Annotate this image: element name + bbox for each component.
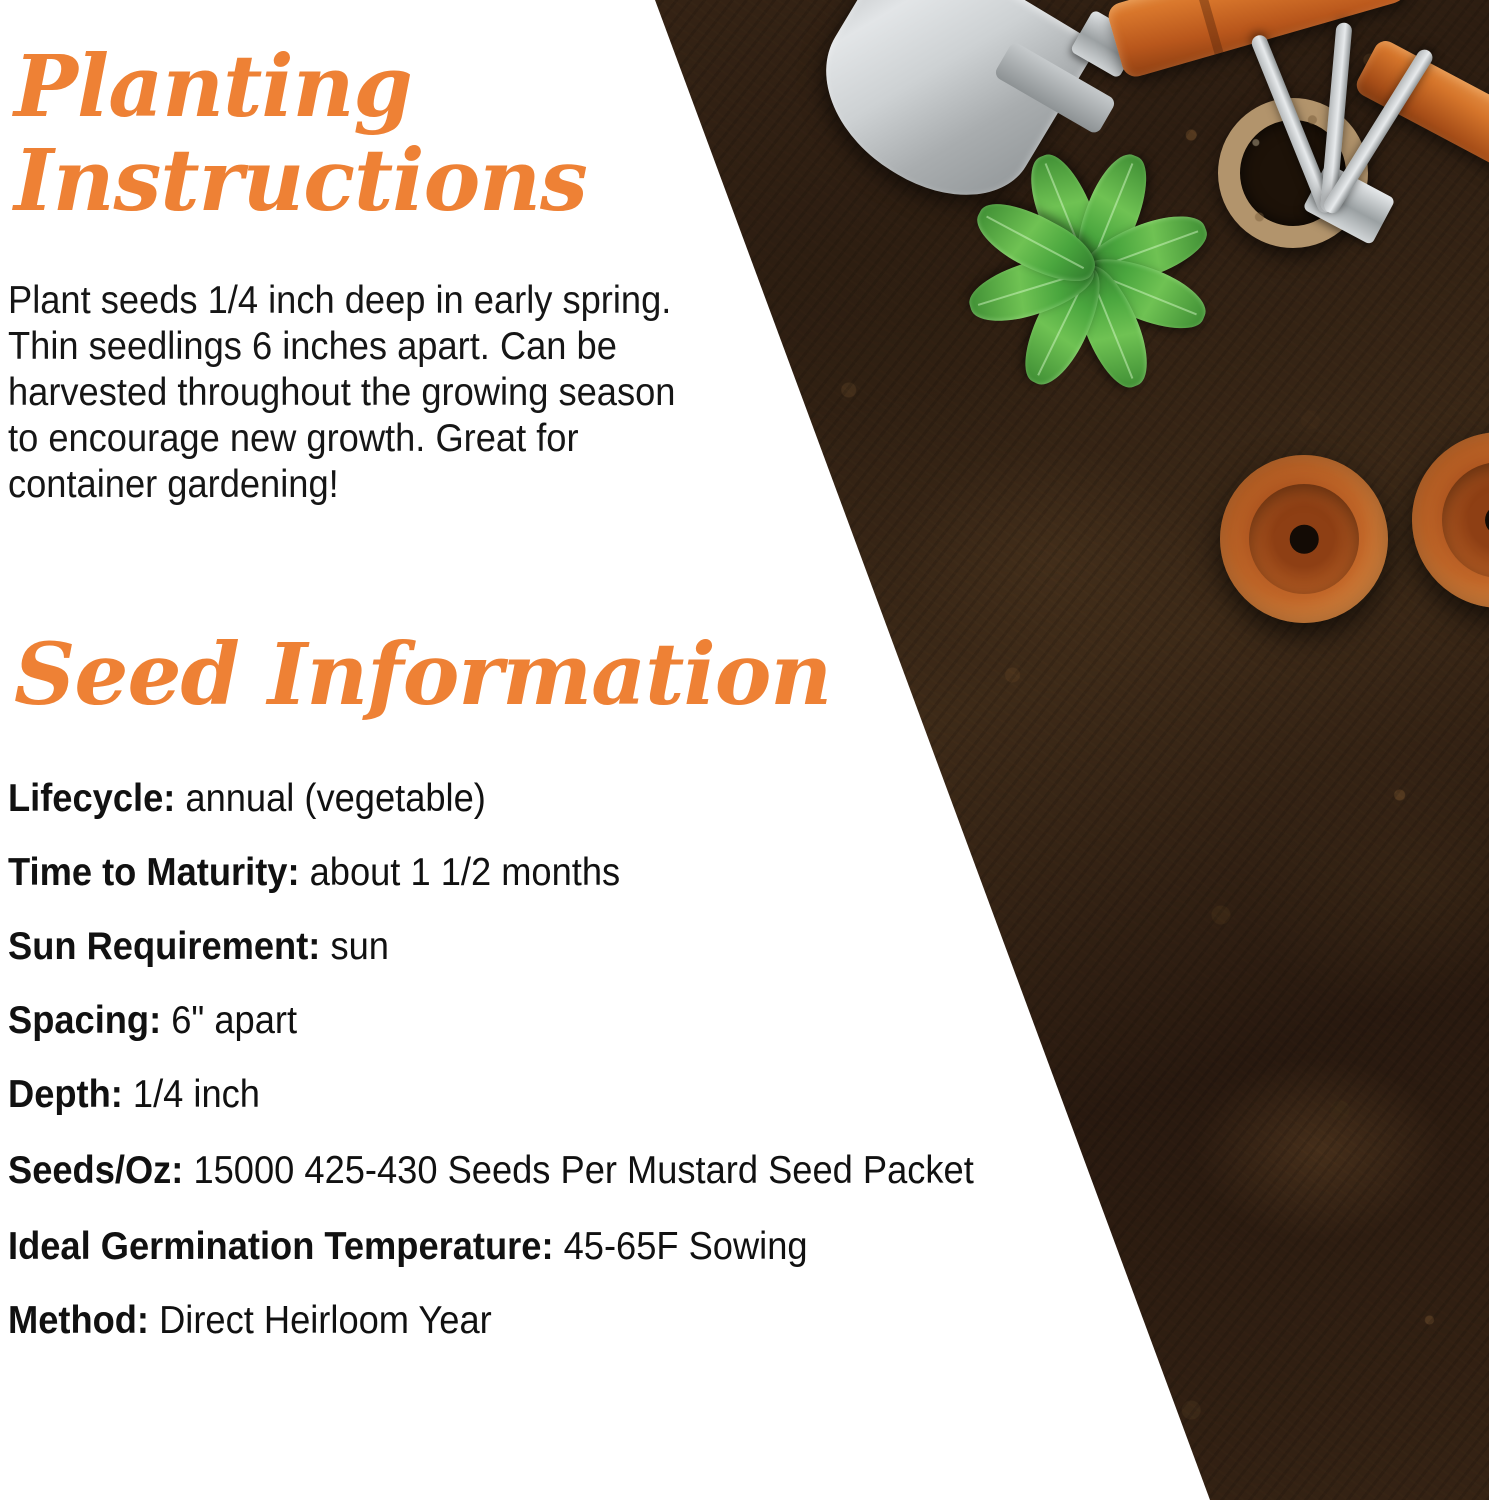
seed-info-row: Seeds/Oz: 15000 425-430 Seeds Per Mustar…	[8, 1145, 1105, 1197]
seed-info-value: Direct Heirloom Year	[159, 1299, 492, 1342]
seed-info-value: 15000 425-430 Seeds Per Mustard Seed Pac…	[193, 1149, 973, 1192]
seed-info-label: Ideal Germination Temperature:	[8, 1225, 554, 1268]
seed-info-row: Lifecycle: annual (vegetable)	[8, 775, 1105, 823]
seed-info-row: Depth: 1/4 inch	[8, 1071, 1105, 1119]
seed-info-label: Method:	[8, 1299, 149, 1342]
seed-info-label: Seeds/Oz:	[8, 1149, 183, 1192]
pot-interior	[1442, 462, 1489, 578]
seed-info-row: Sun Requirement: sun	[8, 923, 1105, 971]
seed-information-heading: Seed Information	[14, 628, 831, 722]
terracotta-pot-icon	[1220, 455, 1388, 623]
seed-info-value: about 1 1/2 months	[310, 851, 621, 894]
seed-info-row: Method: Direct Heirloom Year	[8, 1297, 1105, 1345]
seed-info-value: 1/4 inch	[133, 1073, 260, 1116]
seed-info-row: Ideal Germination Temperature: 45-65F So…	[8, 1223, 1105, 1271]
seed-info-label: Time to Maturity:	[8, 851, 300, 894]
seed-info-value: 45-65F Sowing	[564, 1225, 808, 1268]
pot-drainage-hole	[1290, 525, 1319, 554]
seed-information-list: Lifecycle: annual (vegetable)Time to Mat…	[8, 775, 1188, 1371]
seed-info-label: Sun Requirement:	[8, 925, 320, 968]
seed-info-value: sun	[330, 925, 388, 968]
seed-packet-info-page: Planting Instructions Plant seeds 1/4 in…	[0, 0, 1489, 1500]
seed-info-label: Lifecycle:	[8, 777, 175, 820]
seed-info-row: Spacing: 6" apart	[8, 997, 1105, 1045]
seed-info-row: Time to Maturity: about 1 1/2 months	[8, 849, 1105, 897]
seed-info-value: 6" apart	[171, 999, 297, 1042]
seed-info-value: annual (vegetable)	[185, 777, 485, 820]
seed-info-label: Depth:	[8, 1073, 123, 1116]
planting-instructions-heading: Planting Instructions	[14, 40, 714, 228]
seed-info-label: Spacing:	[8, 999, 161, 1042]
planting-instructions-body: Plant seeds 1/4 inch deep in early sprin…	[8, 278, 698, 508]
